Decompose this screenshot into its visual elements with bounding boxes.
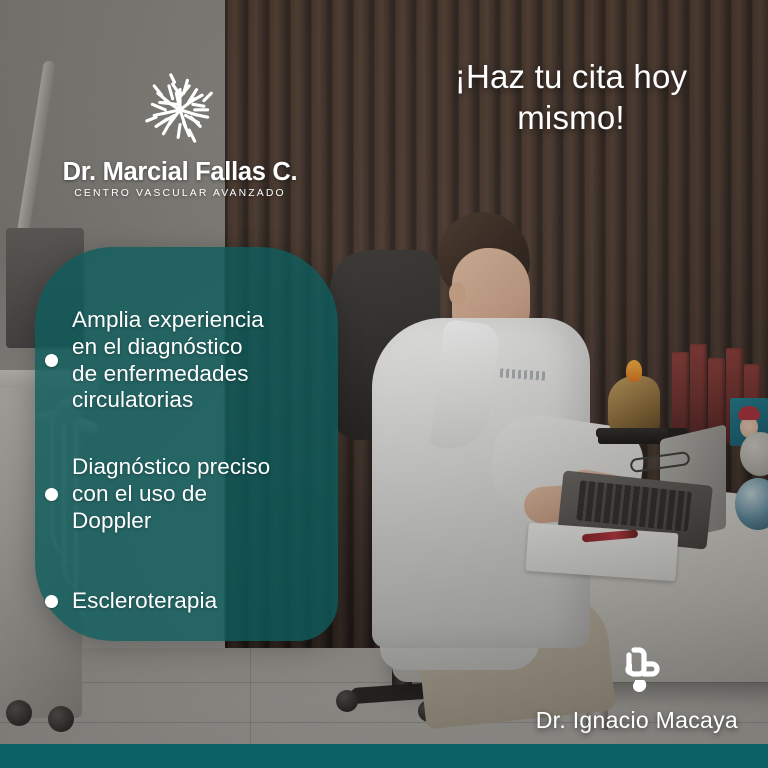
- list-item: Diagnóstico preciso con el uso de Dopple…: [45, 454, 324, 534]
- benefits-list: Amplia experiencia en el diagnóstico de …: [35, 247, 338, 641]
- bullet-dot-icon: [45, 354, 58, 367]
- decorative-statue: [608, 376, 660, 434]
- bullet-dot-icon: [45, 488, 58, 501]
- bullet-dot-icon: [45, 595, 58, 608]
- benefit-text: Escleroterapia: [72, 588, 217, 615]
- signature-name: Dr. Ignacio Macaya: [536, 707, 738, 734]
- headline-text: ¡Haz tu cita hoy mismo!: [398, 56, 744, 139]
- vascular-radial-icon: [134, 62, 226, 154]
- list-item: Amplia experiencia en el diagnóstico de …: [45, 307, 324, 414]
- brand-tagline: CENTRO VASCULAR AVANZADO: [74, 188, 286, 199]
- ad-canvas: Dr. Marcial Fallas C. CENTRO VASCULAR AV…: [0, 0, 768, 768]
- footer-bar: [0, 744, 768, 768]
- brand-logo: Dr. Marcial Fallas C. CENTRO VASCULAR AV…: [60, 62, 300, 199]
- statue-flame: [626, 360, 642, 382]
- medical-cross-icon: [611, 640, 663, 698]
- list-item: Escleroterapia: [45, 588, 324, 615]
- statue-base: [598, 428, 668, 444]
- benefit-text: Diagnóstico preciso con el uso de Dopple…: [72, 454, 270, 534]
- brand-name: Dr. Marcial Fallas C.: [63, 158, 298, 187]
- signature-block: Dr. Ignacio Macaya: [536, 640, 738, 734]
- benefit-text: Amplia experiencia en el diagnóstico de …: [72, 307, 264, 414]
